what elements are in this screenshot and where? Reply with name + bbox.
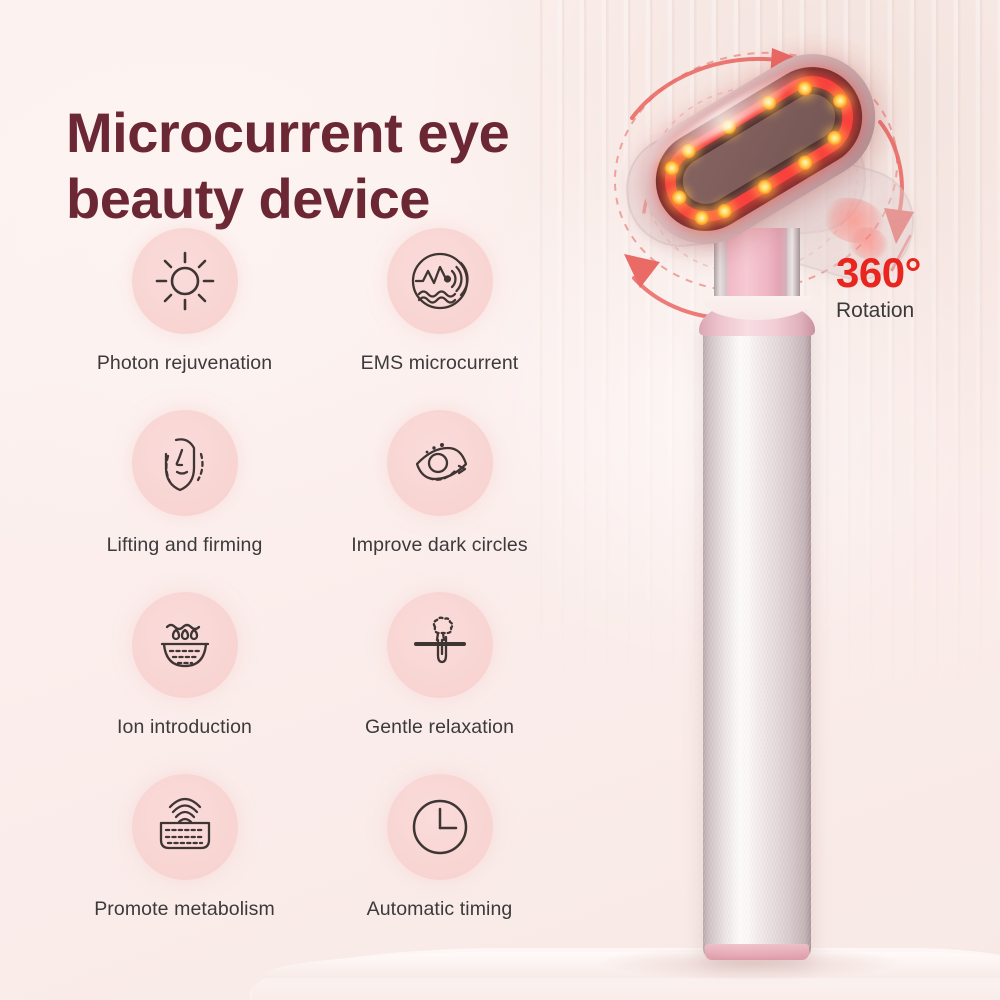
hair-follicle-icon (409, 614, 471, 676)
rotation-badge: 360° Rotation (836, 252, 921, 321)
feature-label: Ion introduction (117, 716, 252, 739)
feature-item-photon-rejuvenation: Photon rejuvenation (62, 228, 307, 410)
feature-label: Promote metabolism (94, 898, 275, 921)
feature-badge (132, 228, 238, 334)
feature-item-improve-dark-circles: Improve dark circles (317, 410, 562, 592)
skin-layers-icon (154, 796, 216, 858)
feature-label: Gentle relaxation (365, 716, 514, 739)
clock-icon (409, 796, 471, 858)
face-profile-icon (154, 432, 216, 494)
feature-badge (387, 410, 493, 516)
feature-label: Automatic timing (367, 898, 513, 921)
page-title-line-2: beauty device (66, 166, 626, 232)
rotation-badge-label: Rotation (836, 300, 921, 321)
feature-item-automatic-timing: Automatic timing (317, 774, 562, 956)
feature-label: Photon rejuvenation (97, 352, 272, 375)
product-marketing-image: Microcurrent eye beauty device Photon re… (0, 0, 1000, 1000)
feature-badge (387, 228, 493, 334)
eye-icon (409, 432, 471, 494)
feature-badge (132, 410, 238, 516)
rotation-badge-value: 360° (836, 252, 921, 294)
ems-wave-icon (409, 250, 471, 312)
feature-label: EMS microcurrent (361, 352, 519, 375)
feature-badge (132, 592, 238, 698)
feature-badge (132, 774, 238, 880)
feature-label: Improve dark circles (351, 534, 527, 557)
feature-item-promote-metabolism: Promote metabolism (62, 774, 307, 956)
product-contact-shadow (600, 946, 900, 980)
feature-item-ion-introduction: Ion introduction (62, 592, 307, 774)
feature-grid: Photon rejuvenation EMS microcurrent (62, 228, 562, 956)
feature-label: Lifting and firming (107, 534, 263, 557)
page-title-line-1: Microcurrent eye (66, 100, 626, 166)
page-title: Microcurrent eye beauty device (66, 100, 626, 232)
feature-item-gentle-relaxation: Gentle relaxation (317, 592, 562, 774)
feature-badge (387, 774, 493, 880)
feature-badge (387, 592, 493, 698)
absorption-bowl-icon (154, 614, 216, 676)
sun-icon (154, 250, 216, 312)
feature-item-lifting-and-firming: Lifting and firming (62, 410, 307, 592)
feature-item-ems-microcurrent: EMS microcurrent (317, 228, 562, 410)
